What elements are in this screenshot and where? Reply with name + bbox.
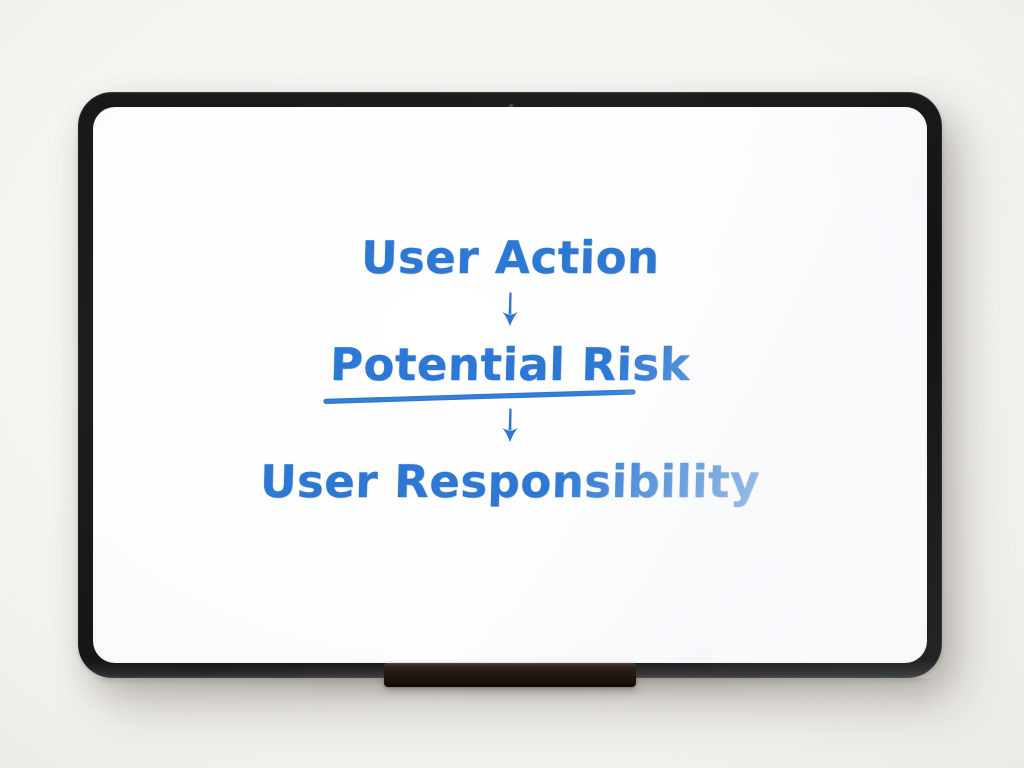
- flow-connector-2: [488, 405, 532, 449]
- arrow-down-icon: [488, 405, 532, 449]
- potential-risk-underline: [324, 389, 636, 405]
- flow-node-user-responsibility: User Responsibility: [259, 459, 760, 504]
- flow-diagram: User Action Potential Risk: [93, 235, 927, 504]
- flow-connector-1: [488, 289, 532, 333]
- flow-node-user-action: User Action: [360, 235, 660, 280]
- wall-mount-bar-highlight: [384, 663, 636, 666]
- flow-node-potential-risk: Potential Risk: [329, 342, 690, 387]
- wall-mount-bar: [384, 663, 636, 687]
- flow-node-user-action-wrap: User Action: [361, 235, 660, 280]
- flow-node-potential-risk-wrap: Potential Risk: [330, 342, 690, 387]
- tablet-screen[interactable]: User Action Potential Risk: [93, 107, 927, 663]
- flow-node-user-responsibility-wrap: User Responsibility: [260, 459, 760, 504]
- tablet-device[interactable]: User Action Potential Risk: [78, 92, 942, 678]
- arrow-down-icon: [488, 289, 532, 333]
- scene-root: User Action Potential Risk: [0, 0, 1024, 768]
